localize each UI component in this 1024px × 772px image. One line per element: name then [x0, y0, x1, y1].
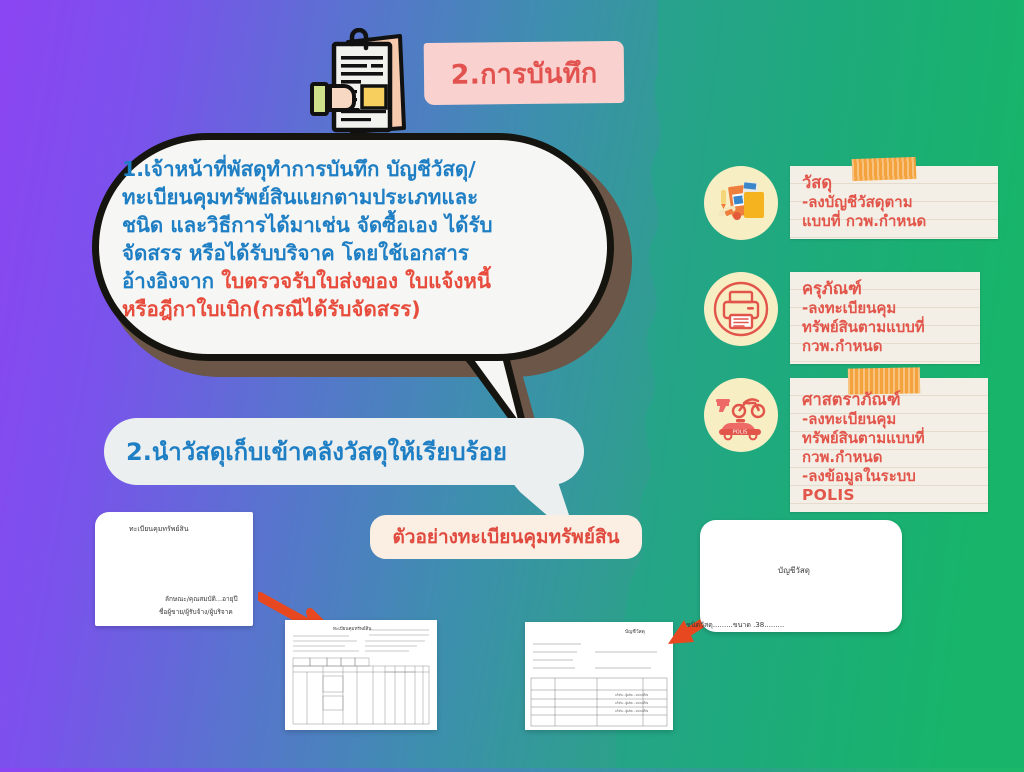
asset-register-card-line-2: ชื่อผู้ขาย/ผู้รับจ้าง/ผู้บริจาค [159, 607, 233, 617]
card-weapons-line-2: ทรัพย์สินตามแบบที่ [802, 429, 978, 448]
bubble-line-3: ชนิด และวิธีการได้มาเช่น จัดซื้อเอง ได้ร… [122, 211, 592, 239]
clipboard-hand-icon [308, 28, 420, 140]
bubble-line-1: 1.เจ้าหน้าที่พัสดุทำการบันทึก บัญชีวัสดุ… [122, 155, 592, 183]
svg-text:บริษัท...ผู้ผลิต...หน่วยที่ส่ง: บริษัท...ผู้ผลิต...หน่วยที่ส่ง [615, 701, 649, 705]
card-weapons-line-3: กวพ.กำหนด [802, 448, 978, 467]
asset-register-card[interactable]: ทะเบียนคุมทรัพย์สิน ลักษณะ/คุณสมบัติ...อ… [95, 512, 253, 626]
svg-text:POLIS: POLIS [733, 429, 747, 435]
card-weapons-line-1: -ลงทะเบียนคุม [802, 410, 978, 429]
art-supplies-icon [704, 166, 778, 240]
main-speech-bubble: 1.เจ้าหน้าที่พัสดุทำการบันทึก บัญชีวัสดุ… [92, 133, 622, 369]
card-durable-goods-line-3: กวพ.กำหนด [802, 337, 970, 356]
card-weapons-title: ศาสตราภัณฑ์ [802, 390, 978, 410]
bubble-line-5-highlight: ใบตรวจรับใบส่งของ ใบแจ้งหนี้ [221, 269, 491, 293]
bubble-line-5-plain: อ้างอิงจาก [122, 269, 221, 293]
bubble-line-5: อ้างอิงจาก ใบตรวจรับใบส่งของ ใบแจ้งหนี้ [122, 267, 592, 295]
card-durable-goods[interactable]: ครุภัณฑ์ -ลงทะเบียนคุม ทรัพย์สินตามแบบที… [704, 272, 1004, 362]
card-materials-title: วัสดุ [802, 173, 988, 193]
card-materials-paper: วัสดุ -ลงบัญชีวัสดุตาม แบบที่ กวพ.กำหนด [790, 166, 998, 239]
caption-tag: ตัวอย่างทะเบียนคุมทรัพย์สิน [370, 515, 642, 559]
svg-text:บริษัท...ผู้ผลิต...หน่วยที่ส่ง: บริษัท...ผู้ผลิต...หน่วยที่ส่ง [615, 693, 649, 697]
card-durable-goods-line-2: ทรัพย์สินตามแบบที่ [802, 318, 970, 337]
card-weapons-paper: ศาสตราภัณฑ์ -ลงทะเบียนคุม ทรัพย์สินตามแบ… [790, 378, 988, 512]
asset-register-form[interactable]: ทะเบียนคุมทรัพย์สิน [285, 620, 437, 730]
card-weapons[interactable]: POLIS ศาสตราภัณฑ์ -ลงทะเบียนคุม ทรัพย์สิ… [704, 378, 1004, 508]
card-materials-body: วัสดุ -ลงบัญชีวัสดุตาม แบบที่ กวพ.กำหนด [790, 166, 998, 239]
card-materials-line-1: -ลงบัญชีวัสดุตาม [802, 193, 988, 212]
card-durable-goods-body: ครุภัณฑ์ -ลงทะเบียนคุม ทรัพย์สินตามแบบที… [790, 272, 980, 364]
material-account-form-grid: บริษัท...ผู้ผลิต...หน่วยที่ส่ง บริษัท...… [525, 622, 673, 730]
material-account-card-line-1: ชนิดวัสดุ.........ขนาด .38......... [686, 620, 784, 631]
asset-register-card-line-1: ลักษณะ/คุณสมบัติ...อายุปี [165, 594, 238, 604]
svg-text:บริษัท...ผู้ผลิต...หน่วยที่ส่ง: บริษัท...ผู้ผลิต...หน่วยที่ส่ง [615, 709, 649, 713]
caption-tag-text: ตัวอย่างทะเบียนคุมทรัพย์สิน [370, 515, 642, 559]
page-title-banner: 2.การบันทึก [424, 41, 625, 105]
card-weapons-line-4: -ลงข้อมูลในระบบ [802, 467, 978, 486]
second-bubble-text: 2.นำวัสดุเก็บเข้าคลังวัสดุให้เรียบร้อย [104, 418, 584, 485]
card-weapons-line-5: POLIS [802, 486, 978, 504]
material-account-card[interactable]: บัญชีวัสดุ ชนิดวัสดุ.........ขนาด .38...… [700, 520, 902, 632]
bubble-line-2: ทะเบียนคุมทรัพย์สินแยกตามประเภทและ [122, 183, 592, 211]
bubble-line-4: จัดสรร หรือได้รับบริจาค โดยใช้เอกสาร [122, 239, 592, 267]
material-account-card-title: บัญชีวัสดุ [778, 564, 810, 577]
material-account-form[interactable]: บัญชีวัสดุ บริษัท...ผู้ผลิต...หน่วยที่ส่… [525, 622, 673, 730]
card-durable-goods-paper: ครุภัณฑ์ -ลงทะเบียนคุม ทรัพย์สินตามแบบที… [790, 272, 980, 364]
card-materials[interactable]: วัสดุ -ลงบัญชีวัสดุตาม แบบที่ กวพ.กำหนด [704, 166, 1004, 246]
asset-register-form-grid [285, 620, 437, 730]
bubble-line-6: หรือฎีกาใบเบิก(กรณีได้รับจัดสรร) [122, 295, 592, 323]
weapons-vehicle-icon: POLIS [704, 378, 778, 452]
card-durable-goods-title: ครุภัณฑ์ [802, 279, 970, 299]
asset-register-card-title: ทะเบียนคุมทรัพย์สิน [129, 524, 189, 535]
main-bubble-text: 1.เจ้าหน้าที่พัสดุทำการบันทึก บัญชีวัสดุ… [122, 155, 592, 323]
page-title: 2.การบันทึก [424, 41, 625, 105]
printer-icon [704, 272, 778, 346]
card-materials-line-2: แบบที่ กวพ.กำหนด [802, 212, 988, 231]
card-weapons-body: ศาสตราภัณฑ์ -ลงทะเบียนคุม ทรัพย์สินตามแบ… [790, 378, 988, 512]
second-speech-bubble: 2.นำวัสดุเก็บเข้าคลังวัสดุให้เรียบร้อย [104, 418, 584, 485]
infographic-canvas: 2.การบันทึก 1.เจ้าหน้าที่พัสดุทำการบันทึ… [0, 0, 1024, 768]
card-durable-goods-line-1: -ลงทะเบียนคุม [802, 299, 970, 318]
